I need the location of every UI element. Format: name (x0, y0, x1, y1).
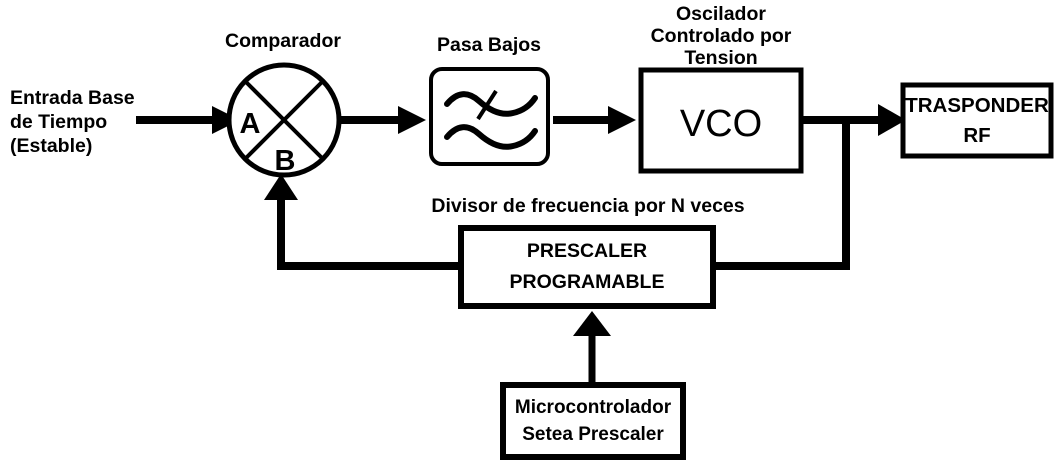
pll-block-diagram: Entrada Base de Tiempo (Estable) Compara… (0, 0, 1057, 465)
comparator-caption: Comparador (225, 30, 341, 52)
comparator-port-b-label: B (275, 145, 296, 177)
microcontroller-node: Microcontrolador Setea Prescaler (503, 385, 683, 457)
prescaler-label-line-2: PROGRAMABLE (510, 271, 665, 293)
comparator-node: Comparador A B (225, 30, 341, 177)
connector-comparator-to-lowpass (339, 106, 426, 134)
connector-vco-to-transponder (800, 104, 906, 136)
input-label-group: Entrada Base de Tiempo (Estable) (10, 87, 135, 157)
connector-prescaler-to-comparator (264, 174, 461, 270)
comparator-port-a-label: A (240, 108, 261, 140)
feedback-comparator-arrowhead (264, 174, 298, 200)
connector-input-to-comparator (136, 106, 240, 134)
vco-body-label: VCO (680, 103, 762, 145)
vco-caption-line-2: Controlado por (651, 25, 792, 47)
connector-lowpass-to-vco (553, 106, 636, 134)
lowpass-node: Pasa Bajos (431, 34, 548, 164)
prescaler-caption: Divisor de frecuencia por N veces (431, 195, 744, 217)
vco-node: Oscilador Controlado por Tension VCO (641, 3, 801, 171)
block-diagram-canvas: Entrada Base de Tiempo (Estable) Compara… (0, 0, 1057, 465)
vco-caption-line-3: Tension (684, 47, 757, 69)
connector-microcontroller-to-prescaler (573, 311, 611, 384)
lowpass-box (431, 69, 548, 164)
microcontroller-label-line-2: Setea Prescaler (522, 424, 664, 445)
prescaler-label-line-1: PRESCALER (527, 240, 647, 262)
connector-comparator-to-lowpass-arrowhead (398, 106, 426, 134)
input-label-line-2: de Tiempo (10, 111, 107, 133)
connector-lowpass-to-vco-arrowhead (608, 106, 636, 134)
input-label-line-1: Entrada Base (10, 87, 135, 109)
microcontroller-box (503, 385, 683, 457)
transponder-label-line-2: RF (963, 124, 990, 147)
microcontroller-label-line-1: Microcontrolador (515, 397, 672, 418)
vco-caption-line-1: Oscilador (676, 3, 766, 25)
input-label-line-3: (Estable) (10, 135, 92, 157)
microcontroller-arrowhead (573, 311, 611, 336)
prescaler-node: Divisor de frecuencia por N veces PRESCA… (431, 195, 744, 306)
lowpass-caption: Pasa Bajos (437, 34, 541, 56)
transponder-label-line-1: TRASPONDER (905, 94, 1049, 117)
transponder-node: TRASPONDER RF (903, 85, 1051, 156)
